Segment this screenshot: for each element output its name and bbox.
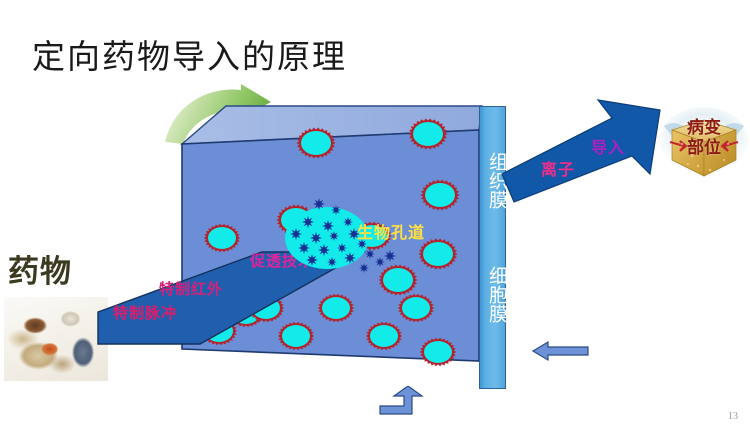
ion-import-arrow: [500, 96, 680, 206]
ion-star: [298, 242, 310, 254]
ion-star: [327, 257, 337, 267]
ion-label: 离子: [541, 156, 575, 180]
ion-star: [384, 250, 396, 262]
ion-star: [337, 243, 347, 253]
ion-star: [310, 232, 322, 244]
bio-pore-label: 生物孔道: [357, 219, 425, 243]
lesion-label-line1: 病变: [687, 118, 721, 137]
slide-canvas: 定向药物导入的原理 药物 特制脉冲: [0, 0, 750, 430]
drug-label: 药物: [8, 246, 72, 291]
beam-label-pulse: 特制脉冲: [113, 302, 177, 323]
ion-star: [290, 228, 302, 240]
ion-star: [375, 257, 385, 267]
ion-star: [343, 217, 353, 227]
ion-star: [365, 249, 375, 259]
page-number: 13: [728, 411, 738, 422]
ion-star: [313, 198, 325, 210]
drug-photo: [4, 297, 108, 381]
ion-star: [331, 205, 341, 215]
lesion-label-line2: 部位: [687, 138, 721, 157]
import-label: 导入: [591, 134, 625, 158]
ion-star: [359, 263, 369, 273]
left-pointing-arrow: [532, 340, 590, 362]
ion-star: [318, 244, 330, 256]
bottom-elbow-up-arrow: [378, 386, 430, 416]
ion-star: [344, 252, 356, 264]
membrane-label-cell: 细胞膜: [480, 255, 507, 333]
ion-star: [306, 254, 318, 266]
beam-label-infrared: 特制红外: [159, 278, 223, 299]
ion-star: [302, 216, 314, 228]
page-title: 定向药物导入的原理: [32, 30, 347, 78]
ion-star: [329, 231, 339, 241]
lesion-site-label: 病变 部位: [672, 118, 736, 158]
ion-star: [322, 220, 334, 232]
